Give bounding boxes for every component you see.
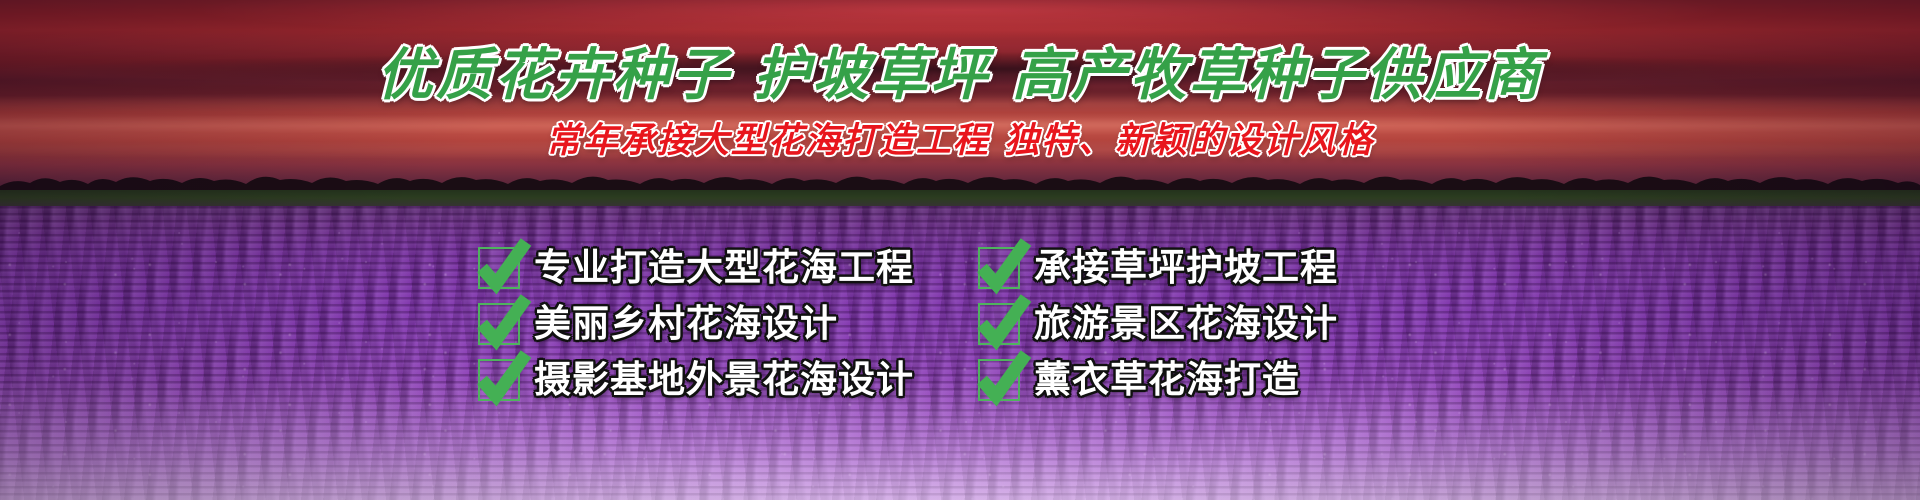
- checkmark-icon: [478, 303, 520, 345]
- feature-label: 旅游景区花海设计: [1034, 302, 1338, 346]
- feature-label: 薰衣草花海打造: [1034, 358, 1300, 402]
- feature-item: 美丽乡村花海设计: [478, 296, 958, 352]
- checkmark-icon: [978, 359, 1020, 401]
- feature-label: 专业打造大型花海工程: [534, 246, 914, 290]
- feature-label: 承接草坪护坡工程: [1034, 246, 1338, 290]
- checkmark-icon: [478, 359, 520, 401]
- banner-headline: 优质花卉种子 护坡草坪 高产牧草种子供应商: [0, 44, 1920, 106]
- feature-item: 摄影基地外景花海设计: [478, 352, 958, 408]
- feature-label: 摄影基地外景花海设计: [534, 358, 914, 402]
- feature-item: 承接草坪护坡工程: [958, 240, 1442, 296]
- banner-subtitle: 常年承接大型花海打造工程 独特、新颖的设计风格: [0, 120, 1920, 162]
- feature-item: 专业打造大型花海工程: [478, 240, 958, 296]
- hero-banner: 优质花卉种子 护坡草坪 高产牧草种子供应商 常年承接大型花海打造工程 独特、新颖…: [0, 0, 1920, 500]
- checkmark-icon: [478, 247, 520, 289]
- checkmark-icon: [978, 303, 1020, 345]
- feature-item: 薰衣草花海打造: [958, 352, 1442, 408]
- feature-checklist: 专业打造大型花海工程 承接草坪护坡工程 美丽乡村花海设计: [478, 240, 1442, 408]
- feature-item: 旅游景区花海设计: [958, 296, 1442, 352]
- feature-label: 美丽乡村花海设计: [534, 302, 838, 346]
- checkmark-icon: [978, 247, 1020, 289]
